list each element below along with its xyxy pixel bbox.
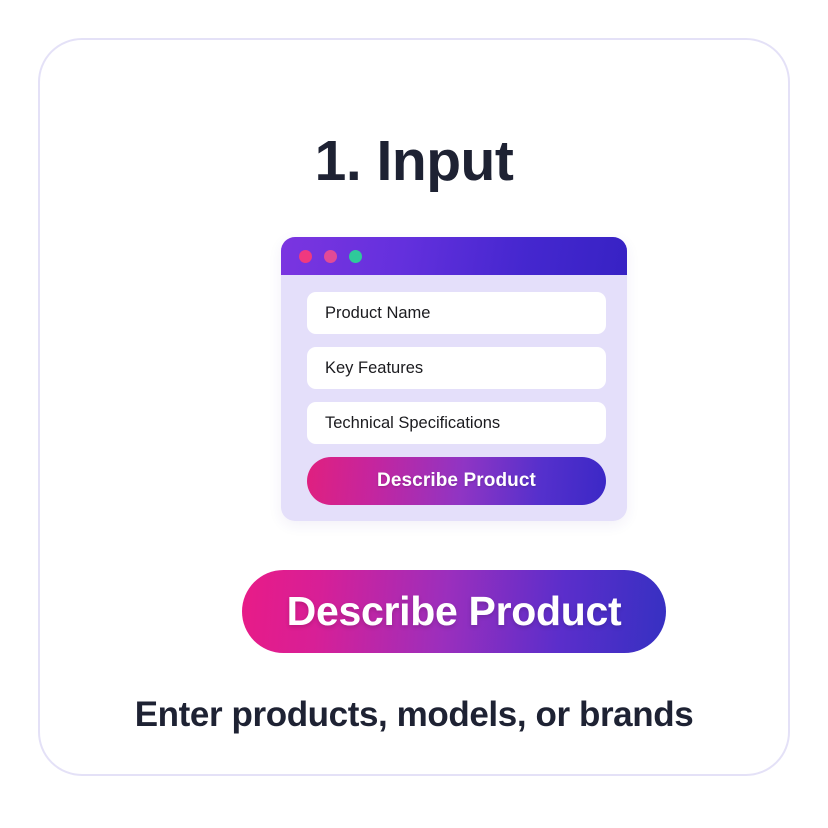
caption-text: Enter products, models, or brands <box>40 695 788 735</box>
minimize-dot[interactable] <box>324 250 337 263</box>
technical-specifications-input[interactable]: Technical Specifications <box>307 402 606 444</box>
mockup-describe-product-button-label: Describe Product <box>377 470 536 492</box>
browser-mockup: Product Name Key Features Technical Spec… <box>281 237 627 521</box>
mockup-describe-product-button[interactable]: Describe Product <box>307 457 606 505</box>
screenshot-root: 1. Input Product Name Key Features Techn… <box>0 0 828 828</box>
product-name-input[interactable]: Product Name <box>307 292 606 334</box>
page-title: 1. Input <box>40 132 788 192</box>
describe-product-button-label: Describe Product <box>287 588 622 635</box>
key-features-input[interactable]: Key Features <box>307 347 606 389</box>
technical-specifications-input-label: Technical Specifications <box>325 414 500 433</box>
product-name-input-label: Product Name <box>325 304 430 323</box>
maximize-dot[interactable] <box>349 250 362 263</box>
mockup-body: Product Name Key Features Technical Spec… <box>281 275 627 505</box>
describe-product-button[interactable]: Describe Product <box>242 570 666 653</box>
step-card: 1. Input Product Name Key Features Techn… <box>38 38 790 776</box>
key-features-input-label: Key Features <box>325 359 423 378</box>
mockup-titlebar <box>281 237 627 275</box>
close-dot[interactable] <box>299 250 312 263</box>
